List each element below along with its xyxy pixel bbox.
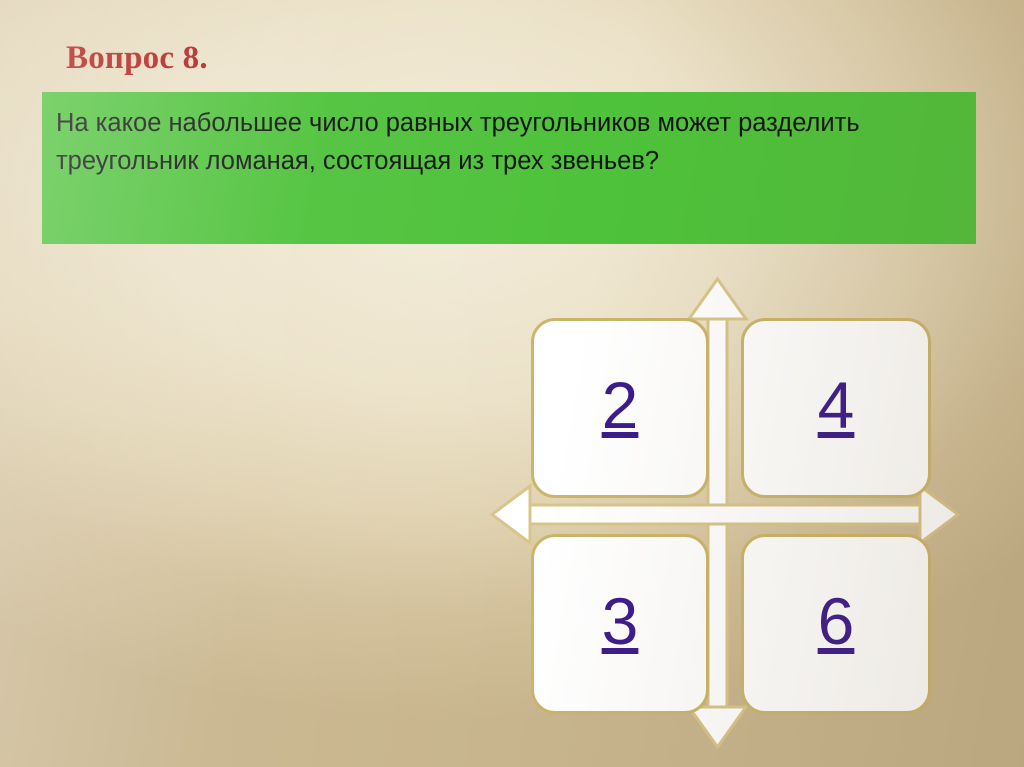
answer-option-a-label: 2 — [602, 372, 639, 444]
answer-option-d-label: 6 — [818, 588, 855, 660]
answer-option-b[interactable]: 4 — [741, 318, 931, 498]
answer-option-c-label: 3 — [602, 588, 639, 660]
answer-option-b-label: 4 — [818, 372, 855, 444]
question-box: На какое набольшее число равных треуголь… — [42, 92, 976, 244]
page-title: Вопрос 8. — [66, 40, 208, 77]
question-text: На какое набольшее число равных треуголь… — [56, 104, 960, 180]
answer-option-a[interactable]: 2 — [531, 318, 709, 498]
answer-option-d[interactable]: 6 — [741, 534, 931, 714]
answer-option-c[interactable]: 3 — [531, 534, 709, 714]
slide-canvas: Вопрос 8. На какое набольшее число равны… — [0, 0, 1024, 767]
